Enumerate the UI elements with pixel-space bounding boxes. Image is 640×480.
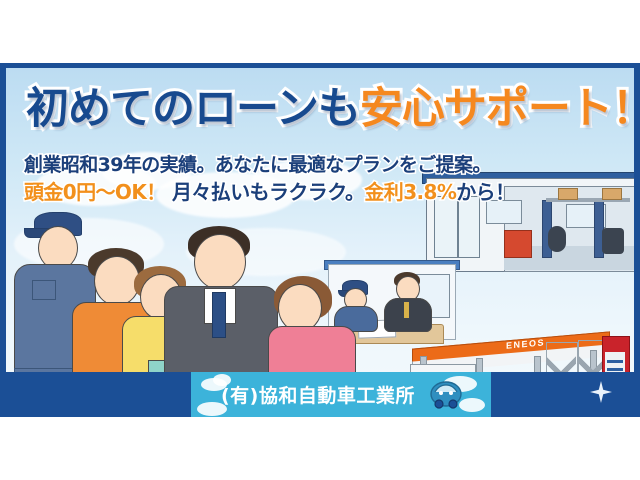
garage-entrance-door [434,196,480,258]
footer-band: (有)協和自動車工業所 [6,372,634,417]
page-title: 初めてのローンも安心サポート！ [26,88,626,131]
storage-box [602,188,622,200]
tire-stack [548,226,566,252]
head [278,284,322,332]
car-mascot-icon [429,378,463,410]
headline-blue-text: 初めてのローンも [26,84,360,134]
uniform-pocket [32,280,56,300]
downpayment-text: 頭金0円〜OK！ [24,180,166,204]
from-text: から！ [456,180,514,204]
shop-name: (有)協和自動車工業所 [221,381,415,408]
price-row [607,368,623,371]
screenshot-canvas: ENEOS [0,0,640,480]
head [194,234,246,290]
monthly-payment-text: 月々払いもラクラク。 [166,180,365,204]
sparkle-icon [590,381,612,403]
subcopy-line-1: 創業昭和39年の実績。あなたに最適なプランをご提案。 [24,156,491,175]
storage-box [558,188,578,200]
price-row [607,360,623,363]
subcopy-line1-text: 創業昭和39年の実績。あなたに最適なプランをご提案。 [24,154,491,176]
headline-orange-text: 安心サポート！ [360,84,634,134]
red-tool-cabinet [504,230,532,258]
shop-name-cloud-band: (有)協和自動車工業所 [191,372,491,417]
banner-inner-frame: ENEOS [6,68,634,417]
advertisement-banner: ENEOS [0,63,640,417]
subcopy-line-2: 頭金0円〜OK！ 月々払いもラクラク。金利3.8%から！ [24,182,514,202]
tool-cabinet [602,228,624,254]
interest-rate-text: 金利3.8% [364,180,456,204]
necktie [404,302,409,318]
necktie [212,292,226,338]
